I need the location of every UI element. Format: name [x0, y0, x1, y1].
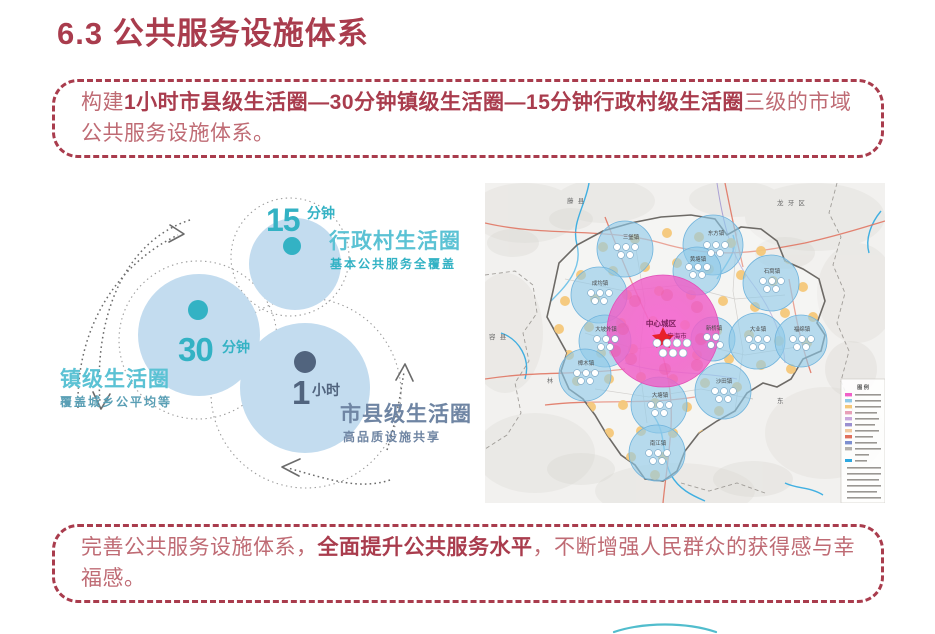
map-graphics: 藤 县 龙 牙 区 容 县 林 东 三堡镇 东方镇 黄塘镇 成均镇 石窝镇 大坡…: [485, 183, 885, 503]
village-circle-unit: 分钟: [307, 206, 335, 220]
town-circle-unit: 分钟: [222, 340, 250, 354]
village-circle-number: 15: [266, 204, 300, 236]
arrow-bottom-path: [288, 468, 390, 484]
map-label-town-6: 新桥镇: [706, 324, 723, 332]
bottom-decorative-arc: [610, 620, 720, 634]
dot-village: [283, 237, 301, 255]
callout-top-text: 构建1小时市县级生活圈—30分钟镇级生活圈—15分钟行政村级生活圈三级的市域公共…: [55, 88, 881, 149]
town-circle-number: 30: [178, 333, 213, 366]
map-label-town-0: 三堡镇: [623, 233, 640, 241]
map-label-neighbor-0: 藤 县: [567, 196, 585, 205]
map-label-neighbor-4: 东: [777, 396, 785, 405]
callout-bottom-text: 完善公共服务设施体系，全面提升公共服务水平，不断增强人民群众的获得感与幸福感。: [55, 533, 881, 594]
city-circle-unit: 小时: [312, 383, 340, 397]
life-circle-diagram: 15 分钟 行政村生活圈 基本公共服务全覆盖 30 分钟 镇级生活圈 覆盖城乡公…: [60, 180, 480, 510]
dot-town: [188, 300, 208, 320]
map-label-town-3: 成均镇: [592, 279, 609, 287]
map-legend: 图 例: [841, 379, 885, 503]
map-label-town-2: 黄塘镇: [690, 255, 707, 263]
map-label-town-1: 东方镇: [708, 229, 725, 237]
dot-city: [294, 351, 316, 373]
callout-top-seg-0: 构建: [81, 91, 124, 114]
legend-title: 图 例: [857, 383, 869, 391]
map-label-neighbor-2: 容 县: [489, 332, 507, 341]
city-circle-number: 1: [292, 376, 309, 409]
callout-bottom-seg-1: 全面提升公共服务水平: [318, 536, 533, 559]
map-label-town-11: 大塘镇: [652, 391, 669, 399]
city-circle-subtitle: 高品质设施共享: [343, 431, 441, 443]
service-coverage-map[interactable]: 藤 县 龙 牙 区 容 县 林 东 三堡镇 东方镇 黄塘镇 成均镇 石窝镇 大坡…: [485, 183, 885, 503]
callout-bottom: 完善公共服务设施体系，全面提升公共服务水平，不断增强人民群众的获得感与幸福感。: [52, 524, 884, 603]
map-label-city: 宁海市: [667, 331, 687, 340]
city-circle-title: 市县级生活圈: [340, 404, 472, 425]
arrow-right-upper-head: [396, 364, 413, 381]
callout-bottom-seg-0: 完善公共服务设施体系，: [81, 536, 318, 559]
arrow-bottom-head: [282, 459, 300, 476]
town-circle-title: 镇级生活圈: [60, 369, 170, 390]
map-label-town-7: 大业镇: [750, 325, 767, 333]
callout-top: 构建1小时市县级生活圈—30分钟镇级生活圈—15分钟行政村级生活圈三级的市域公共…: [52, 79, 884, 158]
map-label-town-12: 南江镇: [650, 439, 667, 447]
map-label-town-8: 福绵镇: [794, 325, 811, 333]
village-circle-title: 行政村生活圈: [329, 231, 461, 252]
map-label-town-5: 大坡外镇: [595, 325, 617, 333]
map-label-central-zone: 中心城区: [646, 318, 677, 328]
map-label-town-10: 沙田镇: [716, 377, 733, 385]
town-circle-subtitle: 覆盖城乡公平均等: [60, 396, 172, 408]
village-circle-subtitle: 基本公共服务全覆盖: [330, 258, 456, 270]
callout-top-seg-1: 1小时市县级生活圈—30分钟镇级生活圈—15分钟行政村级生活圈: [124, 91, 744, 114]
map-label-neighbor-1: 龙 牙 区: [777, 198, 806, 207]
map-label-neighbor-3: 林: [547, 377, 554, 385]
map-label-town-9: 樟木镇: [578, 359, 595, 367]
map-label-town-4: 石窝镇: [764, 267, 781, 275]
page-title: 6.3 公共服务设施体系: [57, 8, 369, 53]
